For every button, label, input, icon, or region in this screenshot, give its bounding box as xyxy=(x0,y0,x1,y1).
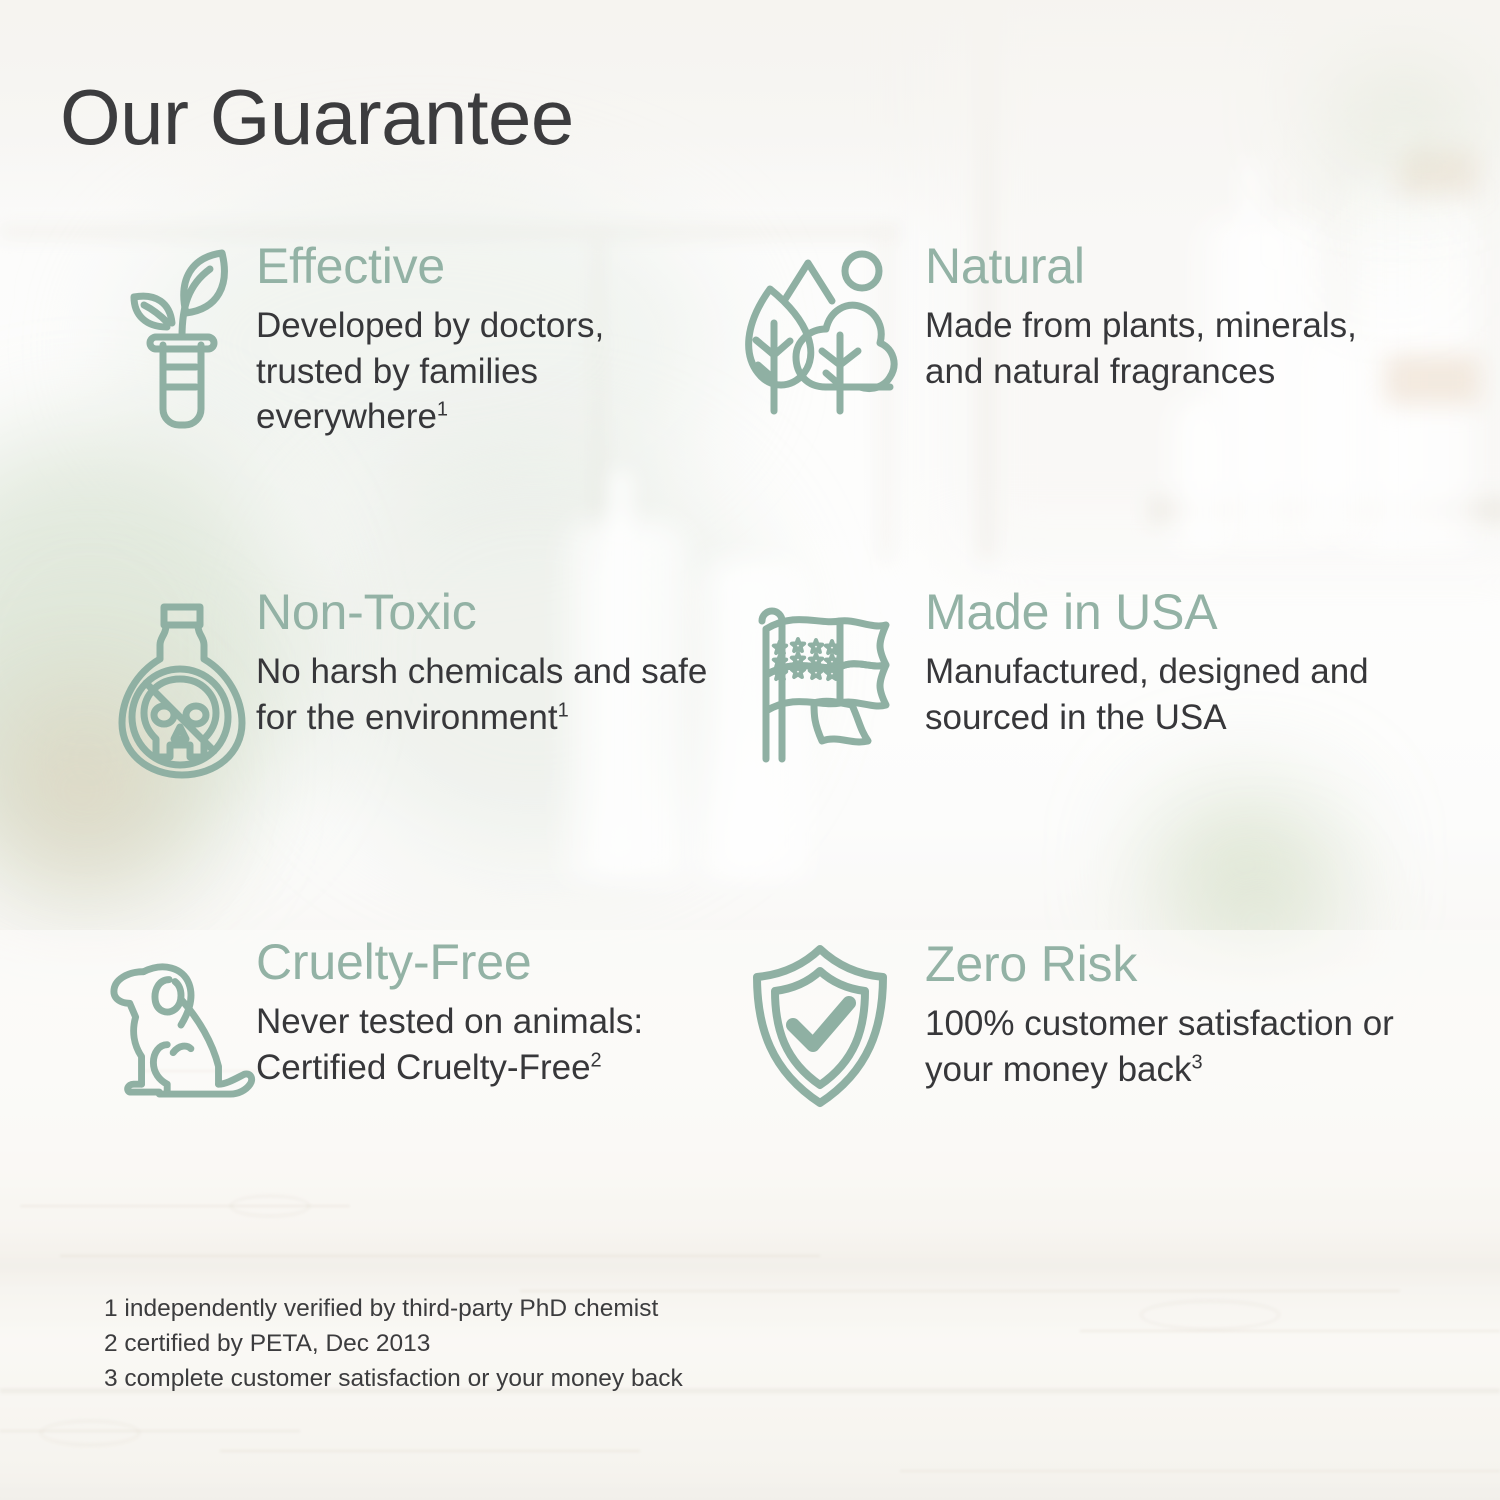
feature-description-text: Developed by doctors, trusted by familie… xyxy=(256,306,604,436)
feature-description-text: Made from plants, minerals, and natural … xyxy=(925,306,1357,391)
feature-description: Manufactured, designed and sourced in th… xyxy=(925,649,1395,740)
feature-zero-risk: Zero Risk 100% customer satisfaction or … xyxy=(715,935,1415,1195)
features-grid: Effective Developed by doctors, trusted … xyxy=(0,233,1500,1195)
features-row: Effective Developed by doctors, trusted … xyxy=(0,233,1500,585)
feature-natural: Natural Made from plants, minerals, and … xyxy=(715,233,1415,585)
feature-text: Cruelty-Free Never tested on animals: Ce… xyxy=(256,935,715,1090)
sitting-dog-icon xyxy=(108,935,256,1101)
feature-title: Made in USA xyxy=(925,585,1395,639)
footnote-ref: 3 xyxy=(1192,1051,1203,1073)
feature-text: Zero Risk 100% customer satisfaction or … xyxy=(925,935,1395,1092)
feature-text: Effective Developed by doctors, trusted … xyxy=(256,233,715,440)
feature-description: No harsh chemicals and safe for the envi… xyxy=(256,649,715,740)
feature-text: Natural Made from plants, minerals, and … xyxy=(925,233,1395,394)
footnote-2: 2 certified by PETA, Dec 2013 xyxy=(104,1327,683,1362)
feature-text: Made in USA Manufactured, designed and s… xyxy=(925,585,1395,740)
feature-title: Non-Toxic xyxy=(256,585,715,639)
test-tube-leaf-icon xyxy=(108,233,256,431)
feature-description-text: No harsh chemicals and safe for the envi… xyxy=(256,652,707,737)
footnote-3: 3 complete customer satisfaction or your… xyxy=(104,1362,683,1397)
feature-text: Non-Toxic No harsh chemicals and safe fo… xyxy=(256,585,715,740)
page-title: Our Guarantee xyxy=(60,78,574,156)
poison-bottle-skull-crossed-out-icon xyxy=(108,585,256,783)
leaf-tree-mountain-sun-icon xyxy=(715,233,925,417)
feature-made-in-usa: Made in USA Manufactured, designed and s… xyxy=(715,585,1415,935)
feature-description-text: Never tested on animals: Certified Cruel… xyxy=(256,1002,643,1087)
features-row: Cruelty-Free Never tested on animals: Ce… xyxy=(0,935,1500,1195)
shield-check-icon xyxy=(715,935,925,1111)
feature-title: Natural xyxy=(925,239,1395,293)
features-row: Non-Toxic No harsh chemicals and safe fo… xyxy=(0,585,1500,935)
footnote-ref: 1 xyxy=(558,699,569,721)
footnote-1: 1 independently verified by third-party … xyxy=(104,1292,683,1327)
feature-title: Effective xyxy=(256,239,715,293)
footnote-ref: 1 xyxy=(437,398,448,420)
feature-description-text: 100% customer satisfaction or your money… xyxy=(925,1004,1394,1089)
feature-description: Never tested on animals: Certified Cruel… xyxy=(256,999,715,1090)
feature-title: Zero Risk xyxy=(925,937,1395,991)
usa-flag-icon xyxy=(715,585,925,767)
feature-description: 100% customer satisfaction or your money… xyxy=(925,1001,1395,1092)
feature-description: Developed by doctors, trusted by familie… xyxy=(256,303,715,440)
feature-effective: Effective Developed by doctors, trusted … xyxy=(0,233,715,585)
footnote-ref: 2 xyxy=(591,1049,602,1071)
feature-cruelty-free: Cruelty-Free Never tested on animals: Ce… xyxy=(0,935,715,1195)
feature-title: Cruelty-Free xyxy=(256,935,715,989)
feature-description: Made from plants, minerals, and natural … xyxy=(925,303,1395,394)
feature-non-toxic: Non-Toxic No harsh chemicals and safe fo… xyxy=(0,585,715,935)
feature-description-text: Manufactured, designed and sourced in th… xyxy=(925,652,1369,737)
footnotes-block: 1 independently verified by third-party … xyxy=(104,1292,683,1396)
